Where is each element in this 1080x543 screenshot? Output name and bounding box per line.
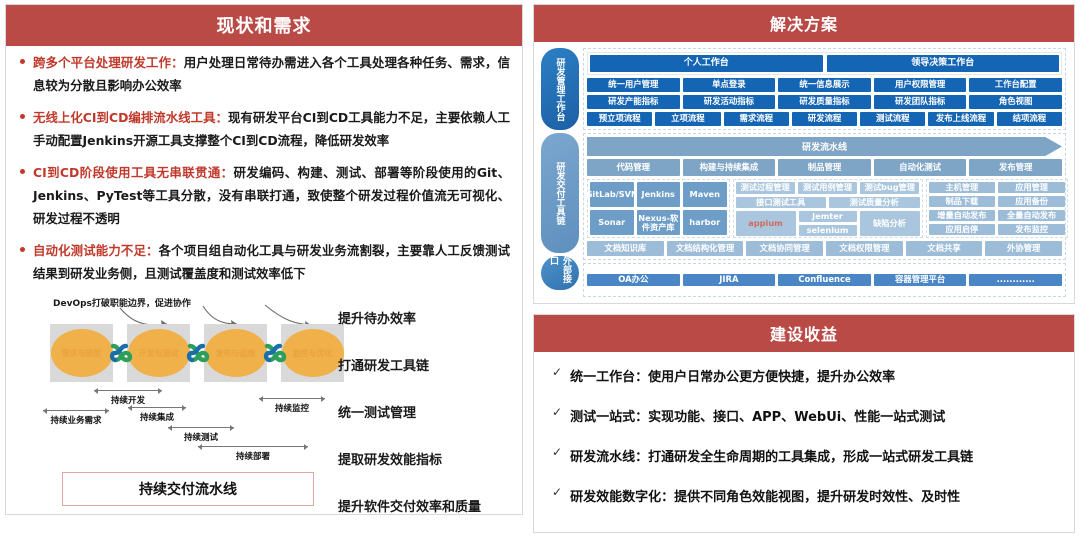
layer-rails: 研发管理工作台 研发交付工具链 外部接口 bbox=[541, 48, 579, 297]
external-interface-group: OA办公 JIRA Confluence 容器管理平台 ............ bbox=[583, 263, 1066, 297]
stage-box: 开发与测试 bbox=[127, 324, 190, 382]
right-column: 解决方案 研发管理工作台 研发交付工具链 外部接口 个人工作台 领导决策工作台 … bbox=[533, 4, 1075, 515]
rail-external-interface: 外部接口 bbox=[541, 256, 579, 290]
benefit-panel: 建设收益 ✓统一工作台：使用户日常办公更方便快捷，提升办公效率 ✓测试一站式：实… bbox=[533, 314, 1075, 533]
bullet-dot-icon bbox=[20, 114, 25, 119]
table-row[interactable]: 发布监控 bbox=[998, 224, 1065, 235]
stage-ellipse: 监控与优化 bbox=[282, 329, 344, 377]
table-row[interactable]: 制品管理 bbox=[778, 159, 871, 176]
span-arrow bbox=[43, 410, 109, 411]
check-icon: ✓ bbox=[552, 446, 562, 459]
tool-matrix: GitLab/SVN Jenkins Maven Sonar Nexus-软件资… bbox=[587, 179, 1062, 238]
table-row[interactable]: 结项流程 bbox=[997, 112, 1062, 126]
layer-stack: 个人工作台 领导决策工作台 统一用户管理 单点登录 统一信息展示 用户权限管理 … bbox=[583, 48, 1066, 297]
current-state-title: 现状和需求 bbox=[6, 5, 522, 46]
list-item: 统一测试管理 bbox=[338, 402, 533, 421]
table-row[interactable]: 发布管理 bbox=[969, 159, 1062, 176]
table-row[interactable]: 文档知识库 bbox=[587, 241, 664, 256]
tool-defect-analysis[interactable]: 缺陷分析 bbox=[860, 211, 920, 236]
span-label: 持续集成 bbox=[124, 411, 190, 423]
stage-label: 发布与运维 bbox=[216, 348, 256, 359]
benefit-lead: 统一工作台： bbox=[570, 370, 648, 385]
issue-lead: 跨多个平台处理研发工作： bbox=[33, 55, 184, 70]
left-benefits-list: 提升待办效率 打通研发工具链 统一测试管理 提取研发效能指标 提升软件交付效率和… bbox=[338, 308, 533, 543]
infinity-icon bbox=[261, 340, 287, 366]
slide-root: 现状和需求 跨多个平台处理研发工作：用户处理日常待办需进入各个工具处理各种任务、… bbox=[0, 0, 1080, 519]
pipeline-stage-row: 代码管理 构建与持续集成 制品管理 自动化测试 发布管理 bbox=[587, 159, 1062, 176]
table-row[interactable]: 全量自动发布 bbox=[998, 210, 1065, 221]
tool-row: 测试过程管理 测试用例管理 测试bug管理 bbox=[736, 182, 920, 194]
tool-jmeter[interactable]: Jemter bbox=[799, 211, 857, 222]
span-label: 持续业务需求 bbox=[39, 414, 113, 426]
tool-row: 制品下载 应用备份 bbox=[929, 196, 1066, 207]
table-row[interactable]: 研发活动指标 bbox=[683, 95, 776, 109]
span-arrow bbox=[198, 446, 308, 447]
issue-lead: 无线上化CI到CD编排流水线工具： bbox=[33, 110, 228, 125]
tool-jenkins[interactable]: Jenkins bbox=[637, 182, 681, 207]
tool-harbor[interactable]: harbor bbox=[683, 210, 727, 235]
list-item: ✓研发流水线：打通研发全生命周期的工具集成，形成一站式研发工具链 bbox=[552, 446, 1058, 465]
stage-label: 监控与优化 bbox=[293, 348, 333, 359]
rail-delivery-toolchain: 研发交付工具链 bbox=[541, 133, 579, 253]
benefit-lead: 测试一站式： bbox=[570, 410, 648, 425]
external-oa[interactable]: OA办公 bbox=[587, 274, 680, 286]
table-row[interactable]: 单点登录 bbox=[683, 78, 776, 92]
external-container-platform[interactable]: 容器管理平台 bbox=[874, 274, 967, 286]
workbench-row-1: 统一用户管理 单点登录 统一信息展示 用户权限管理 工作台配置 bbox=[587, 78, 1062, 92]
external-more[interactable]: ............ bbox=[969, 274, 1062, 286]
architecture-diagram: 研发管理工作台 研发交付工具链 外部接口 个人工作台 领导决策工作台 统一用户管… bbox=[534, 42, 1074, 303]
bullet-dot-icon bbox=[20, 59, 25, 64]
infinity-icon bbox=[107, 340, 133, 366]
stage-box: 发布与运维 bbox=[204, 324, 267, 382]
list-item: 提取研发效能指标 bbox=[338, 449, 533, 468]
tool-selenium[interactable]: selenium bbox=[799, 225, 857, 236]
tool-row: 增量自动发布 全量自动发布 bbox=[929, 210, 1066, 221]
benefit-lead: 研发效能数字化： bbox=[570, 490, 674, 505]
table-row[interactable]: 研发团队指标 bbox=[874, 95, 967, 109]
stage-ellipse: 发布与运维 bbox=[205, 329, 267, 377]
tool-row: GitLab/SVN Jenkins Maven bbox=[590, 182, 727, 207]
span-arrow bbox=[94, 390, 162, 391]
bullet-dot-icon bbox=[20, 169, 25, 174]
table-row[interactable]: 自动化测试 bbox=[874, 159, 967, 176]
stage-box: 监控与优化 bbox=[281, 324, 344, 382]
tool-nexus[interactable]: Nexus-软件资产库 bbox=[637, 210, 681, 235]
tool-row: 主机管理 应用管理 bbox=[929, 182, 1066, 193]
span-arrow bbox=[168, 427, 234, 428]
stage-ellipse: 开发与测试 bbox=[128, 329, 190, 377]
list-item: 提升待办效率 bbox=[338, 308, 533, 327]
list-item: ✓研发效能数字化：提供不同角色效能视图，提升研发时效性、及时性 bbox=[552, 486, 1058, 505]
table-row[interactable]: 外协管理 bbox=[985, 241, 1062, 256]
stage-ellipse: 需求与原型 bbox=[51, 329, 113, 377]
table-row[interactable]: 文档协同管理 bbox=[746, 241, 823, 256]
external-jira[interactable]: JIRA bbox=[683, 274, 776, 286]
tool-maven[interactable]: Maven bbox=[683, 182, 727, 207]
issue-lead: CI到CD阶段使用工具无串联贯通： bbox=[33, 165, 233, 180]
table-row[interactable]: 应用管理 bbox=[998, 182, 1065, 193]
check-icon: ✓ bbox=[552, 406, 562, 419]
table-row[interactable]: 角色视图 bbox=[969, 95, 1062, 109]
solution-panel: 解决方案 研发管理工作台 研发交付工具链 外部接口 个人工作台 领导决策工作台 … bbox=[533, 4, 1075, 304]
lifecycle-stages: 需求与原型 开发与测试 发布与运维 监控与优化 bbox=[50, 324, 344, 382]
table-row[interactable]: 文档共享 bbox=[906, 241, 983, 256]
span-arrow bbox=[128, 407, 186, 408]
check-icon: ✓ bbox=[552, 486, 562, 499]
table-row[interactable]: 工作台配置 bbox=[969, 78, 1062, 92]
pipeline-arrow: 研发流水线 bbox=[587, 137, 1062, 156]
table-row[interactable]: 测试流程 bbox=[860, 112, 925, 126]
table-row[interactable]: 构建与持续集成 bbox=[683, 159, 776, 176]
span-label: 持续测试 bbox=[166, 431, 236, 443]
cd-pipeline-box: 持续交付流水线 bbox=[62, 472, 314, 506]
solution-title: 解决方案 bbox=[534, 5, 1074, 42]
benefit-text: 提供不同角色效能视图，提升研发时效性、及时性 bbox=[674, 490, 960, 505]
tools-ops-column: 主机管理 应用管理 制品下载 应用备份 增量自动发布 全量自动发布 bbox=[926, 179, 1069, 238]
workbench-leader[interactable]: 领导决策工作台 bbox=[827, 55, 1060, 72]
table-row[interactable]: 统一信息展示 bbox=[778, 78, 871, 92]
list-item: CI到CD阶段使用工具无串联贯通：研发编码、构建、测试、部署等阶段使用的Git、… bbox=[20, 162, 510, 231]
list-item: 无线上化CI到CD编排流水线工具：现有研发平台CI到CD工具能力不足，主要依赖人… bbox=[20, 107, 510, 153]
table-row[interactable]: 研发流程 bbox=[792, 112, 857, 126]
tool-row: appium Jemter selenium 缺陷分析 bbox=[736, 211, 920, 236]
benefit-title: 建设收益 bbox=[534, 315, 1074, 352]
benefit-text: 使用户日常办公更方便快捷，提升办公效率 bbox=[648, 370, 895, 385]
stage-label: 开发与测试 bbox=[139, 348, 179, 359]
list-item: 打通研发工具链 bbox=[338, 355, 533, 374]
external-row: OA办公 JIRA Confluence 容器管理平台 ............ bbox=[587, 274, 1062, 286]
rail-management-workbench: 研发管理工作台 bbox=[541, 48, 579, 130]
table-row[interactable]: 文档结构化管理 bbox=[667, 241, 744, 256]
workbench-row-2: 研发产能指标 研发活动指标 研发质量指标 研发团队指标 角色视图 bbox=[587, 95, 1062, 109]
list-item: 跨多个平台处理研发工作：用户处理日常待办需进入各个工具处理各种任务、需求，信息较… bbox=[20, 52, 510, 98]
table-row[interactable]: 测试质量分析 bbox=[829, 197, 920, 209]
check-icon: ✓ bbox=[552, 366, 562, 379]
table-row[interactable]: 研发质量指标 bbox=[778, 95, 871, 109]
tool-row: Sonar Nexus-软件资产库 harbor bbox=[590, 210, 727, 235]
external-confluence[interactable]: Confluence bbox=[778, 274, 871, 286]
bullet-dot-icon bbox=[20, 247, 25, 252]
table-row[interactable]: 增量自动发布 bbox=[929, 210, 996, 221]
tools-test-column: 测试过程管理 测试用例管理 测试bug管理 接口测试工具 测试质量分析 appi… bbox=[733, 179, 923, 238]
list-item: ✓统一工作台：使用户日常办公更方便快捷，提升办公效率 bbox=[552, 366, 1058, 385]
benefit-list: ✓统一工作台：使用户日常办公更方便快捷，提升办公效率 ✓测试一站式：实现功能、接… bbox=[534, 352, 1074, 532]
table-row[interactable]: 应用备份 bbox=[998, 196, 1065, 207]
issue-lead: 自动化测试能力不足： bbox=[33, 243, 159, 258]
workbench-personal[interactable]: 个人工作台 bbox=[590, 55, 823, 72]
table-row[interactable]: 统一用户管理 bbox=[587, 78, 680, 92]
benefit-lead: 研发流水线： bbox=[570, 450, 648, 465]
tools-scm-column: GitLab/SVN Jenkins Maven Sonar Nexus-软件资… bbox=[587, 179, 730, 238]
issues-list: 跨多个平台处理研发工作：用户处理日常待办需进入各个工具处理各种任务、需求，信息较… bbox=[20, 52, 510, 285]
table-row[interactable]: 测试过程管理 bbox=[736, 182, 795, 194]
table-row[interactable]: 制品下载 bbox=[929, 196, 996, 207]
tool-row: 应用启停 发布监控 bbox=[929, 224, 1066, 235]
span-arrow bbox=[259, 398, 325, 399]
stage-label: 需求与原型 bbox=[62, 348, 102, 359]
tool-appium[interactable]: appium bbox=[736, 211, 796, 236]
tool-subcol: Jemter selenium bbox=[799, 211, 857, 236]
benefit-text: 实现功能、接口、APP、WebUi、性能一站式测试 bbox=[648, 410, 945, 425]
workbench-row-3: 预立项流程 立项流程 需求流程 研发流程 测试流程 发布上线流程 结项流程 bbox=[587, 112, 1062, 126]
document-row: 文档知识库 文档结构化管理 文档协同管理 文档权限管理 文档共享 外协管理 bbox=[587, 241, 1062, 256]
workbench-top-row: 个人工作台 领导决策工作台 bbox=[587, 52, 1062, 75]
table-row[interactable]: 立项流程 bbox=[655, 112, 720, 126]
stage-box: 需求与原型 bbox=[50, 324, 113, 382]
infinity-icon bbox=[184, 340, 210, 366]
list-item: 自动化测试能力不足：各个项目组自动化工具与研发业务流割裂，主要靠人工反馈测试结果… bbox=[20, 240, 510, 286]
table-row[interactable]: 预立项流程 bbox=[587, 112, 652, 126]
table-row[interactable]: 应用启停 bbox=[929, 224, 996, 235]
table-row[interactable]: 文档权限管理 bbox=[826, 241, 903, 256]
table-row[interactable]: 用户权限管理 bbox=[874, 78, 967, 92]
table-row[interactable]: 代码管理 bbox=[587, 159, 680, 176]
table-row[interactable]: 测试bug管理 bbox=[860, 182, 919, 194]
tool-row: 接口测试工具 测试质量分析 bbox=[736, 197, 920, 209]
table-row[interactable]: 研发产能指标 bbox=[587, 95, 680, 109]
table-row[interactable]: 发布上线流程 bbox=[928, 112, 993, 126]
tool-sonar[interactable]: Sonar bbox=[590, 210, 634, 235]
table-row[interactable]: 需求流程 bbox=[724, 112, 789, 126]
benefit-text: 打通研发全生命周期的工具集成，形成一站式研发工具链 bbox=[648, 450, 973, 465]
table-row[interactable]: 主机管理 bbox=[929, 182, 996, 193]
current-state-panel: 现状和需求 跨多个平台处理研发工作：用户处理日常待办需进入各个工具处理各种任务、… bbox=[5, 4, 523, 515]
list-item: 提升软件交付效率和质量 bbox=[338, 496, 533, 515]
current-state-body: 跨多个平台处理研发工作：用户处理日常待办需进入各个工具处理各种任务、需求，信息较… bbox=[6, 46, 522, 522]
span-label: 持续部署 bbox=[198, 450, 308, 462]
table-row[interactable]: 接口测试工具 bbox=[736, 197, 827, 209]
span-label: 持续监控 bbox=[259, 402, 325, 414]
devops-diagram: DevOps打破职能边界，促进协作 需求与原型 开发与测试 bbox=[20, 294, 510, 522]
table-row[interactable]: 测试用例管理 bbox=[798, 182, 857, 194]
delivery-toolchain-group: 研发流水线 代码管理 构建与持续集成 制品管理 自动化测试 发布管理 GitLa bbox=[583, 133, 1066, 260]
list-item: ✓测试一站式：实现功能、接口、APP、WebUi、性能一站式测试 bbox=[552, 406, 1058, 425]
tool-gitlab[interactable]: GitLab/SVN bbox=[590, 182, 634, 207]
management-workbench-group: 个人工作台 领导决策工作台 统一用户管理 单点登录 统一信息展示 用户权限管理 … bbox=[583, 48, 1066, 130]
